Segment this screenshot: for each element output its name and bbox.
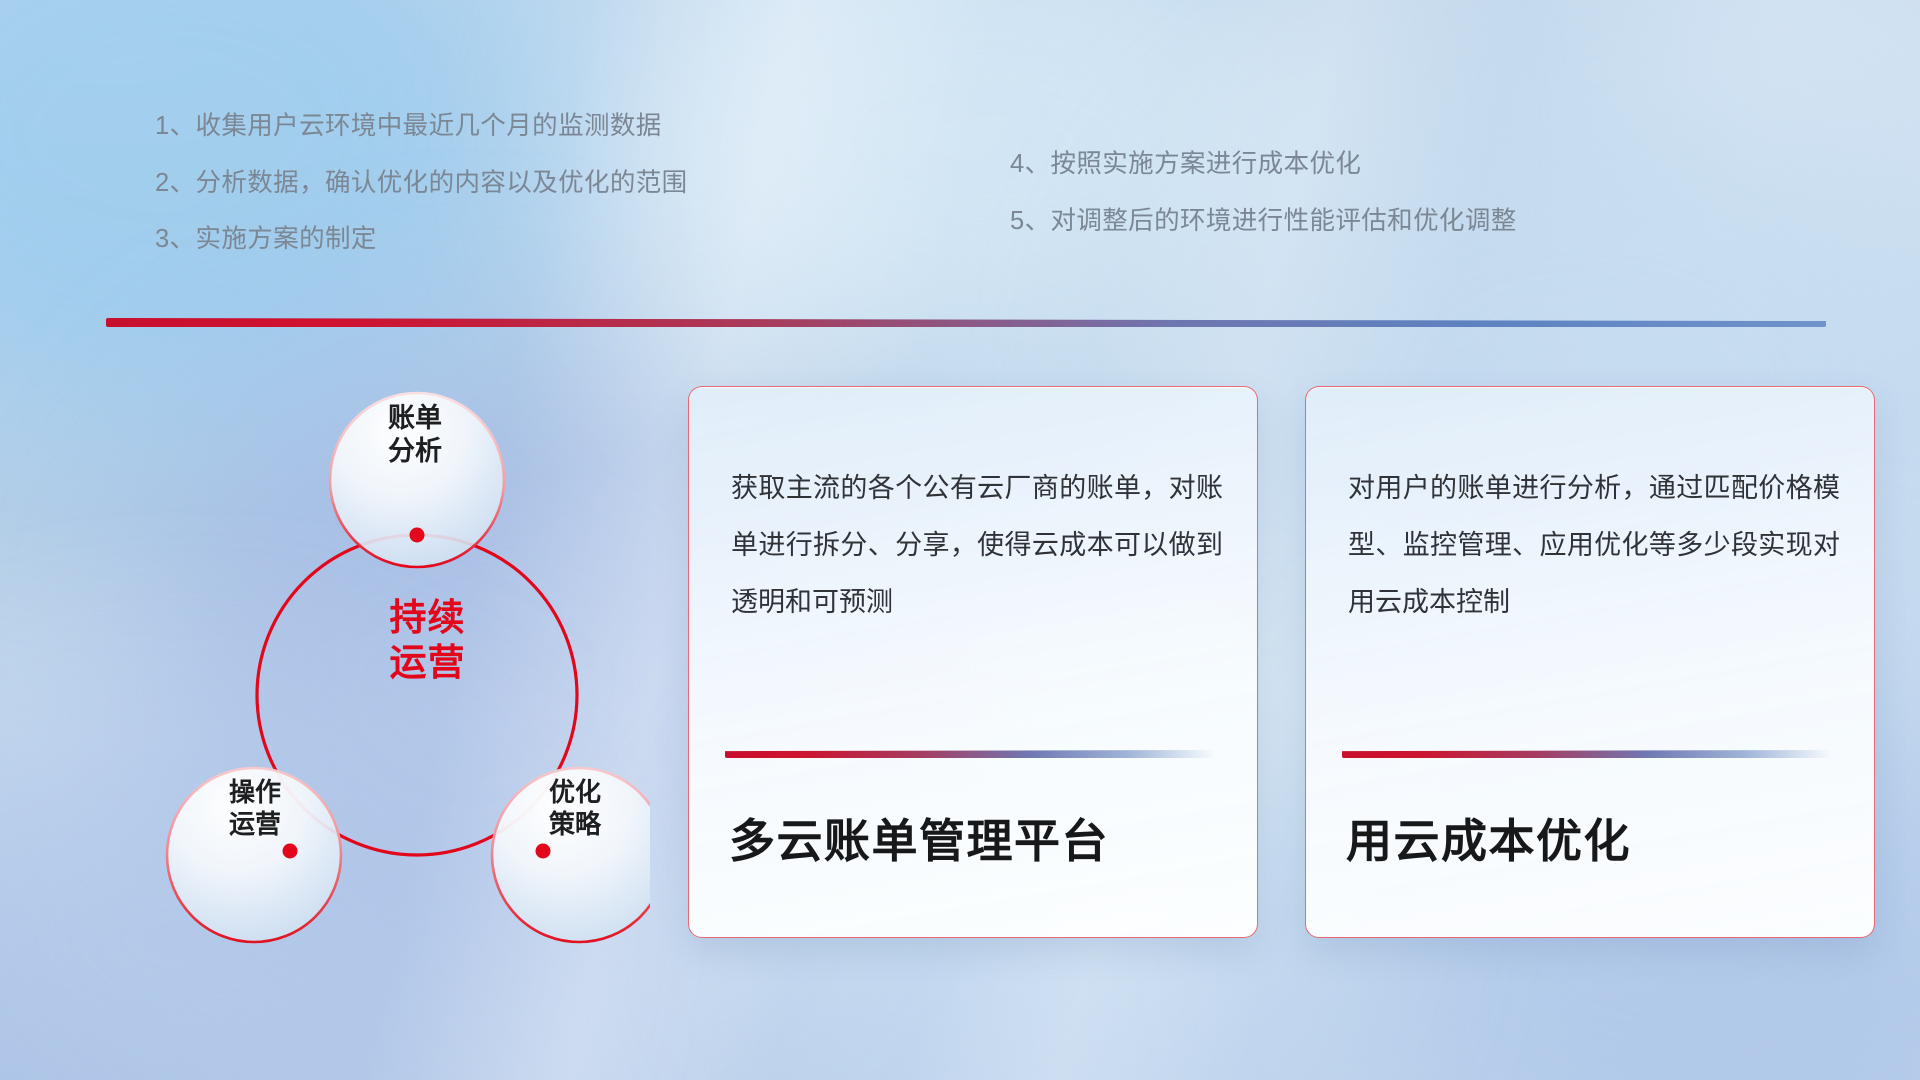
step-item: 4、按照实施方案进行成本优化: [1010, 152, 1517, 178]
card-divider: [1342, 750, 1832, 758]
divider-bar: [106, 318, 1826, 327]
venn-label-center-line1: 持续: [345, 595, 510, 640]
info-card[interactable]: 获取主流的各个公有云厂商的账单，对账单进行拆分、分享，使得云成本可以做到透明和可…: [688, 386, 1258, 938]
venn-node-dot-top: [410, 528, 425, 543]
venn-label-center-line2: 运营: [345, 640, 510, 685]
step-item: 1、收集用户云环境中最近几个月的监测数据: [155, 114, 688, 140]
card-body-text: 获取主流的各个公有云厂商的账单，对账单进行拆分、分享，使得云成本可以做到透明和可…: [731, 460, 1223, 632]
steps-list-right: 4、按照实施方案进行成本优化 5、对调整后的环境进行性能评估和优化调整: [1010, 152, 1517, 265]
venn-node-dot-right: [536, 844, 551, 859]
venn-label-top: 账单 分析: [340, 402, 490, 468]
card-divider: [725, 750, 1215, 758]
venn-label-top-line2: 分析: [340, 435, 490, 468]
venn-label-right: 优化 策略: [500, 777, 650, 840]
venn-label-left-line2: 运营: [180, 809, 330, 841]
section-divider: [106, 318, 1826, 327]
venn-label-right-line1: 优化: [500, 777, 650, 809]
venn-diagram: 账单 分析 持续 运营 操作 运营 优化 策略: [90, 345, 650, 945]
step-item: 5、对调整后的环境进行性能评估和优化调整: [1010, 209, 1517, 235]
venn-label-top-line1: 账单: [340, 402, 490, 435]
steps-list-left: 1、收集用户云环境中最近几个月的监测数据 2、分析数据，确认优化的内容以及优化的…: [155, 114, 688, 284]
venn-label-left: 操作 运营: [180, 777, 330, 840]
step-item: 3、实施方案的制定: [155, 227, 688, 253]
venn-label-left-line1: 操作: [180, 777, 330, 809]
card-title: 用云成本优化: [1346, 805, 1854, 871]
venn-label-center: 持续 运营: [345, 595, 510, 685]
card-body-text: 对用户的账单进行分析，通过匹配价格模型、监控管理、应用优化等多少段实现对用云成本…: [1348, 460, 1840, 632]
info-card[interactable]: 对用户的账单进行分析，通过匹配价格模型、监控管理、应用优化等多少段实现对用云成本…: [1305, 386, 1875, 938]
step-item: 2、分析数据，确认优化的内容以及优化的范围: [155, 171, 688, 197]
card-title: 多云账单管理平台: [729, 805, 1237, 871]
venn-node-dot-left: [283, 844, 298, 859]
venn-label-right-line2: 策略: [500, 809, 650, 841]
